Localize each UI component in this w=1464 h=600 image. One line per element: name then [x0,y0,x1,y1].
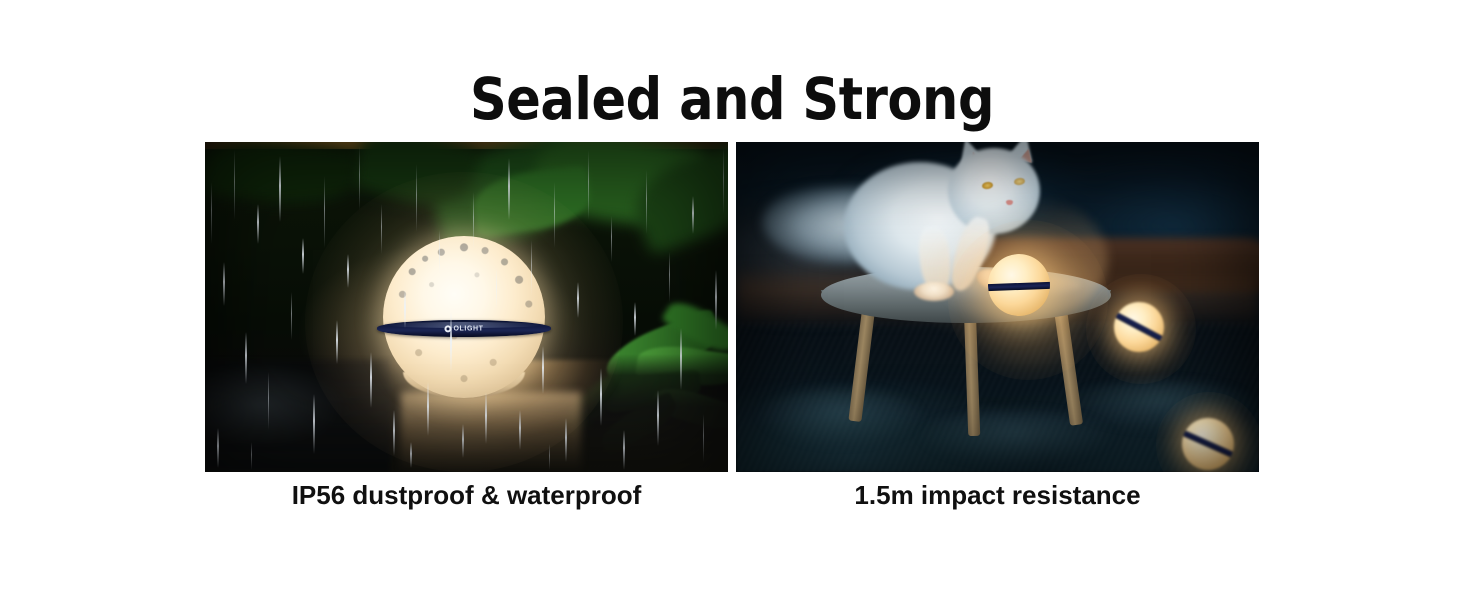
lamp-brand-band [1182,429,1234,458]
lamp-brand-band [1114,311,1164,343]
brand-logo: OLIGHT [444,325,483,332]
rain-drop [611,216,612,262]
olight-logo-mark [444,325,451,332]
image-panel-row: OLIGHT [205,142,1259,472]
panel-waterproof-image: OLIGHT [205,142,728,472]
sphere-lamp: OLIGHT [375,232,553,404]
blanket-fold [756,388,926,448]
rain-drop [302,238,304,274]
rain-scene: OLIGHT [205,142,728,472]
cat-scene [736,142,1259,472]
sphere-lamp-falling-1 [1114,302,1164,352]
brand-name-text: OLIGHT [453,325,483,332]
sphere-lamp-falling-2 [1182,418,1234,470]
page-title: Sealed and Strong [88,66,1376,132]
product-feature-graphic: Sealed and Strong [0,0,1464,600]
rain-drop [223,262,225,306]
lamp-brand-band [988,281,1050,290]
caption-row: IP56 dustproof & waterproof 1.5m impact … [205,478,1259,518]
rain-drop [291,292,292,340]
panel-impact-image [736,142,1259,472]
lamp-wet-rim [383,236,545,398]
caption-impact: 1.5m impact resistance [736,478,1259,518]
rain-drop [257,204,259,244]
foliage-blob [205,142,358,210]
rain-drop [634,302,636,336]
rain-drop [669,252,670,302]
sphere-lamp-on-table [988,254,1050,316]
caption-waterproof: IP56 dustproof & waterproof [205,478,728,518]
lamp-brand-band: OLIGHT [377,320,551,337]
